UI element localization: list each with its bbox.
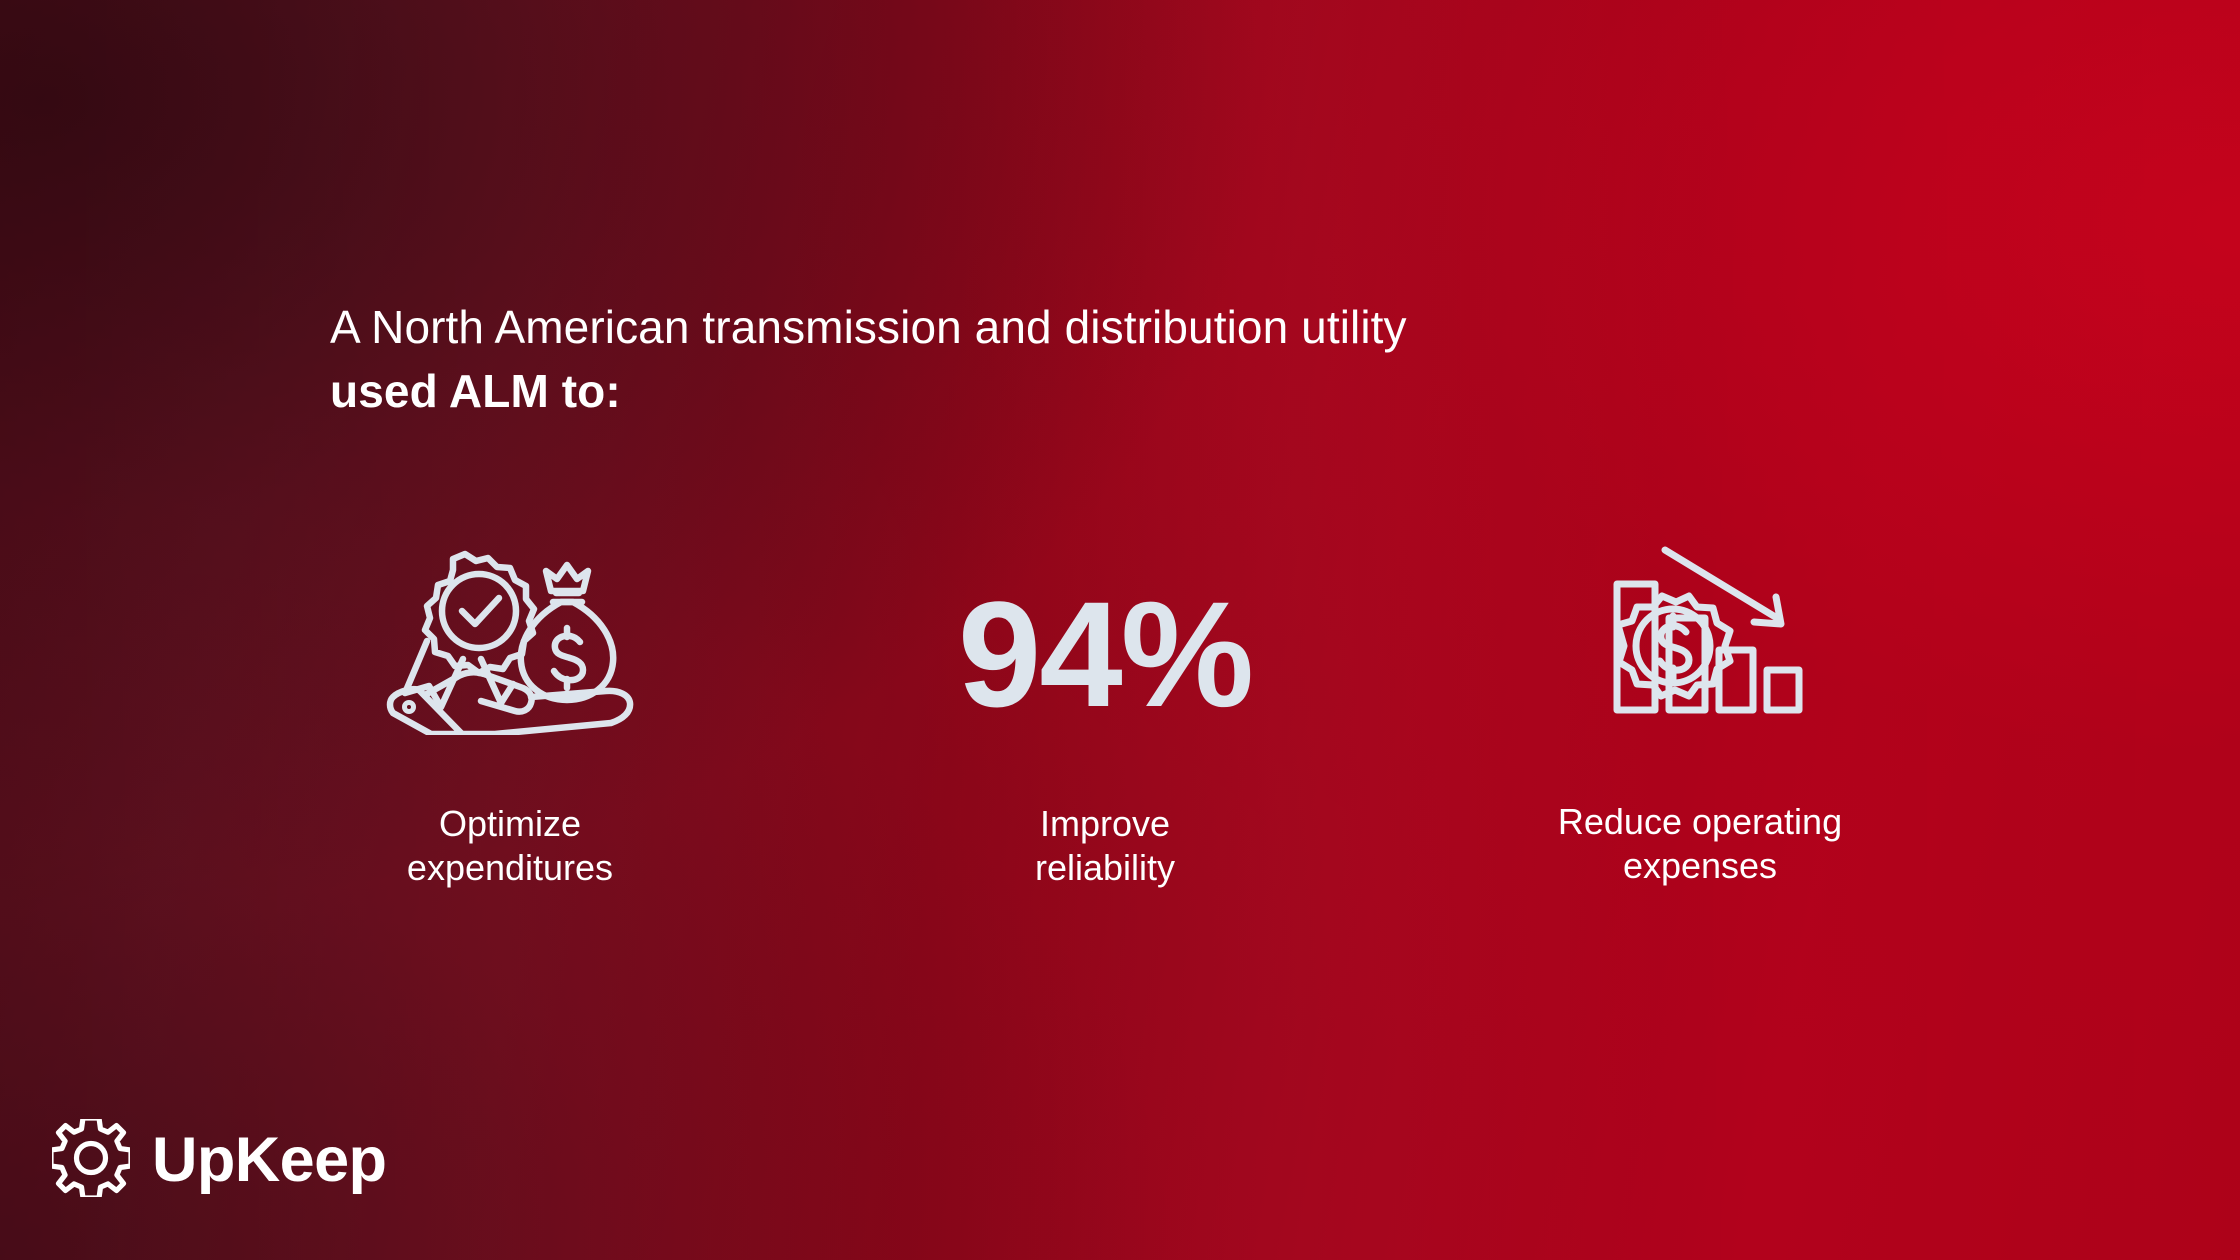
declining-bar-chart-gear-dollar-icon [1565,540,1835,740]
feature-columns: Optimize expenditures 94% Improve reliab… [240,540,1960,960]
feature-column-optimize-expenditures: Optimize expenditures [250,540,770,890]
headline-line-1: A North American transmission and distri… [330,300,1830,354]
upkeep-logo: UpKeep [52,1119,386,1202]
headline-line-2: used ALM to: [330,364,1830,418]
feature-column-reduce-operating-expenses: Reduce operating expenses [1440,540,1960,888]
feature-column-improve-reliability: 94% Improve reliability [845,554,1365,890]
slide-canvas: A North American transmission and distri… [0,0,2240,1260]
stat-number-94-percent: 94% [958,554,1252,754]
headline: A North American transmission and distri… [330,300,1830,419]
feature-caption-improve-reliability: Improve reliability [1035,802,1175,890]
gear-icon [52,1119,130,1202]
upkeep-wordmark: UpKeep [152,1129,386,1192]
feature-caption-reduce-operating-expenses: Reduce operating expenses [1465,800,1935,888]
hand-holding-badge-money-bag-icon [365,540,655,740]
feature-caption-optimize-expenditures: Optimize expenditures [407,802,613,890]
